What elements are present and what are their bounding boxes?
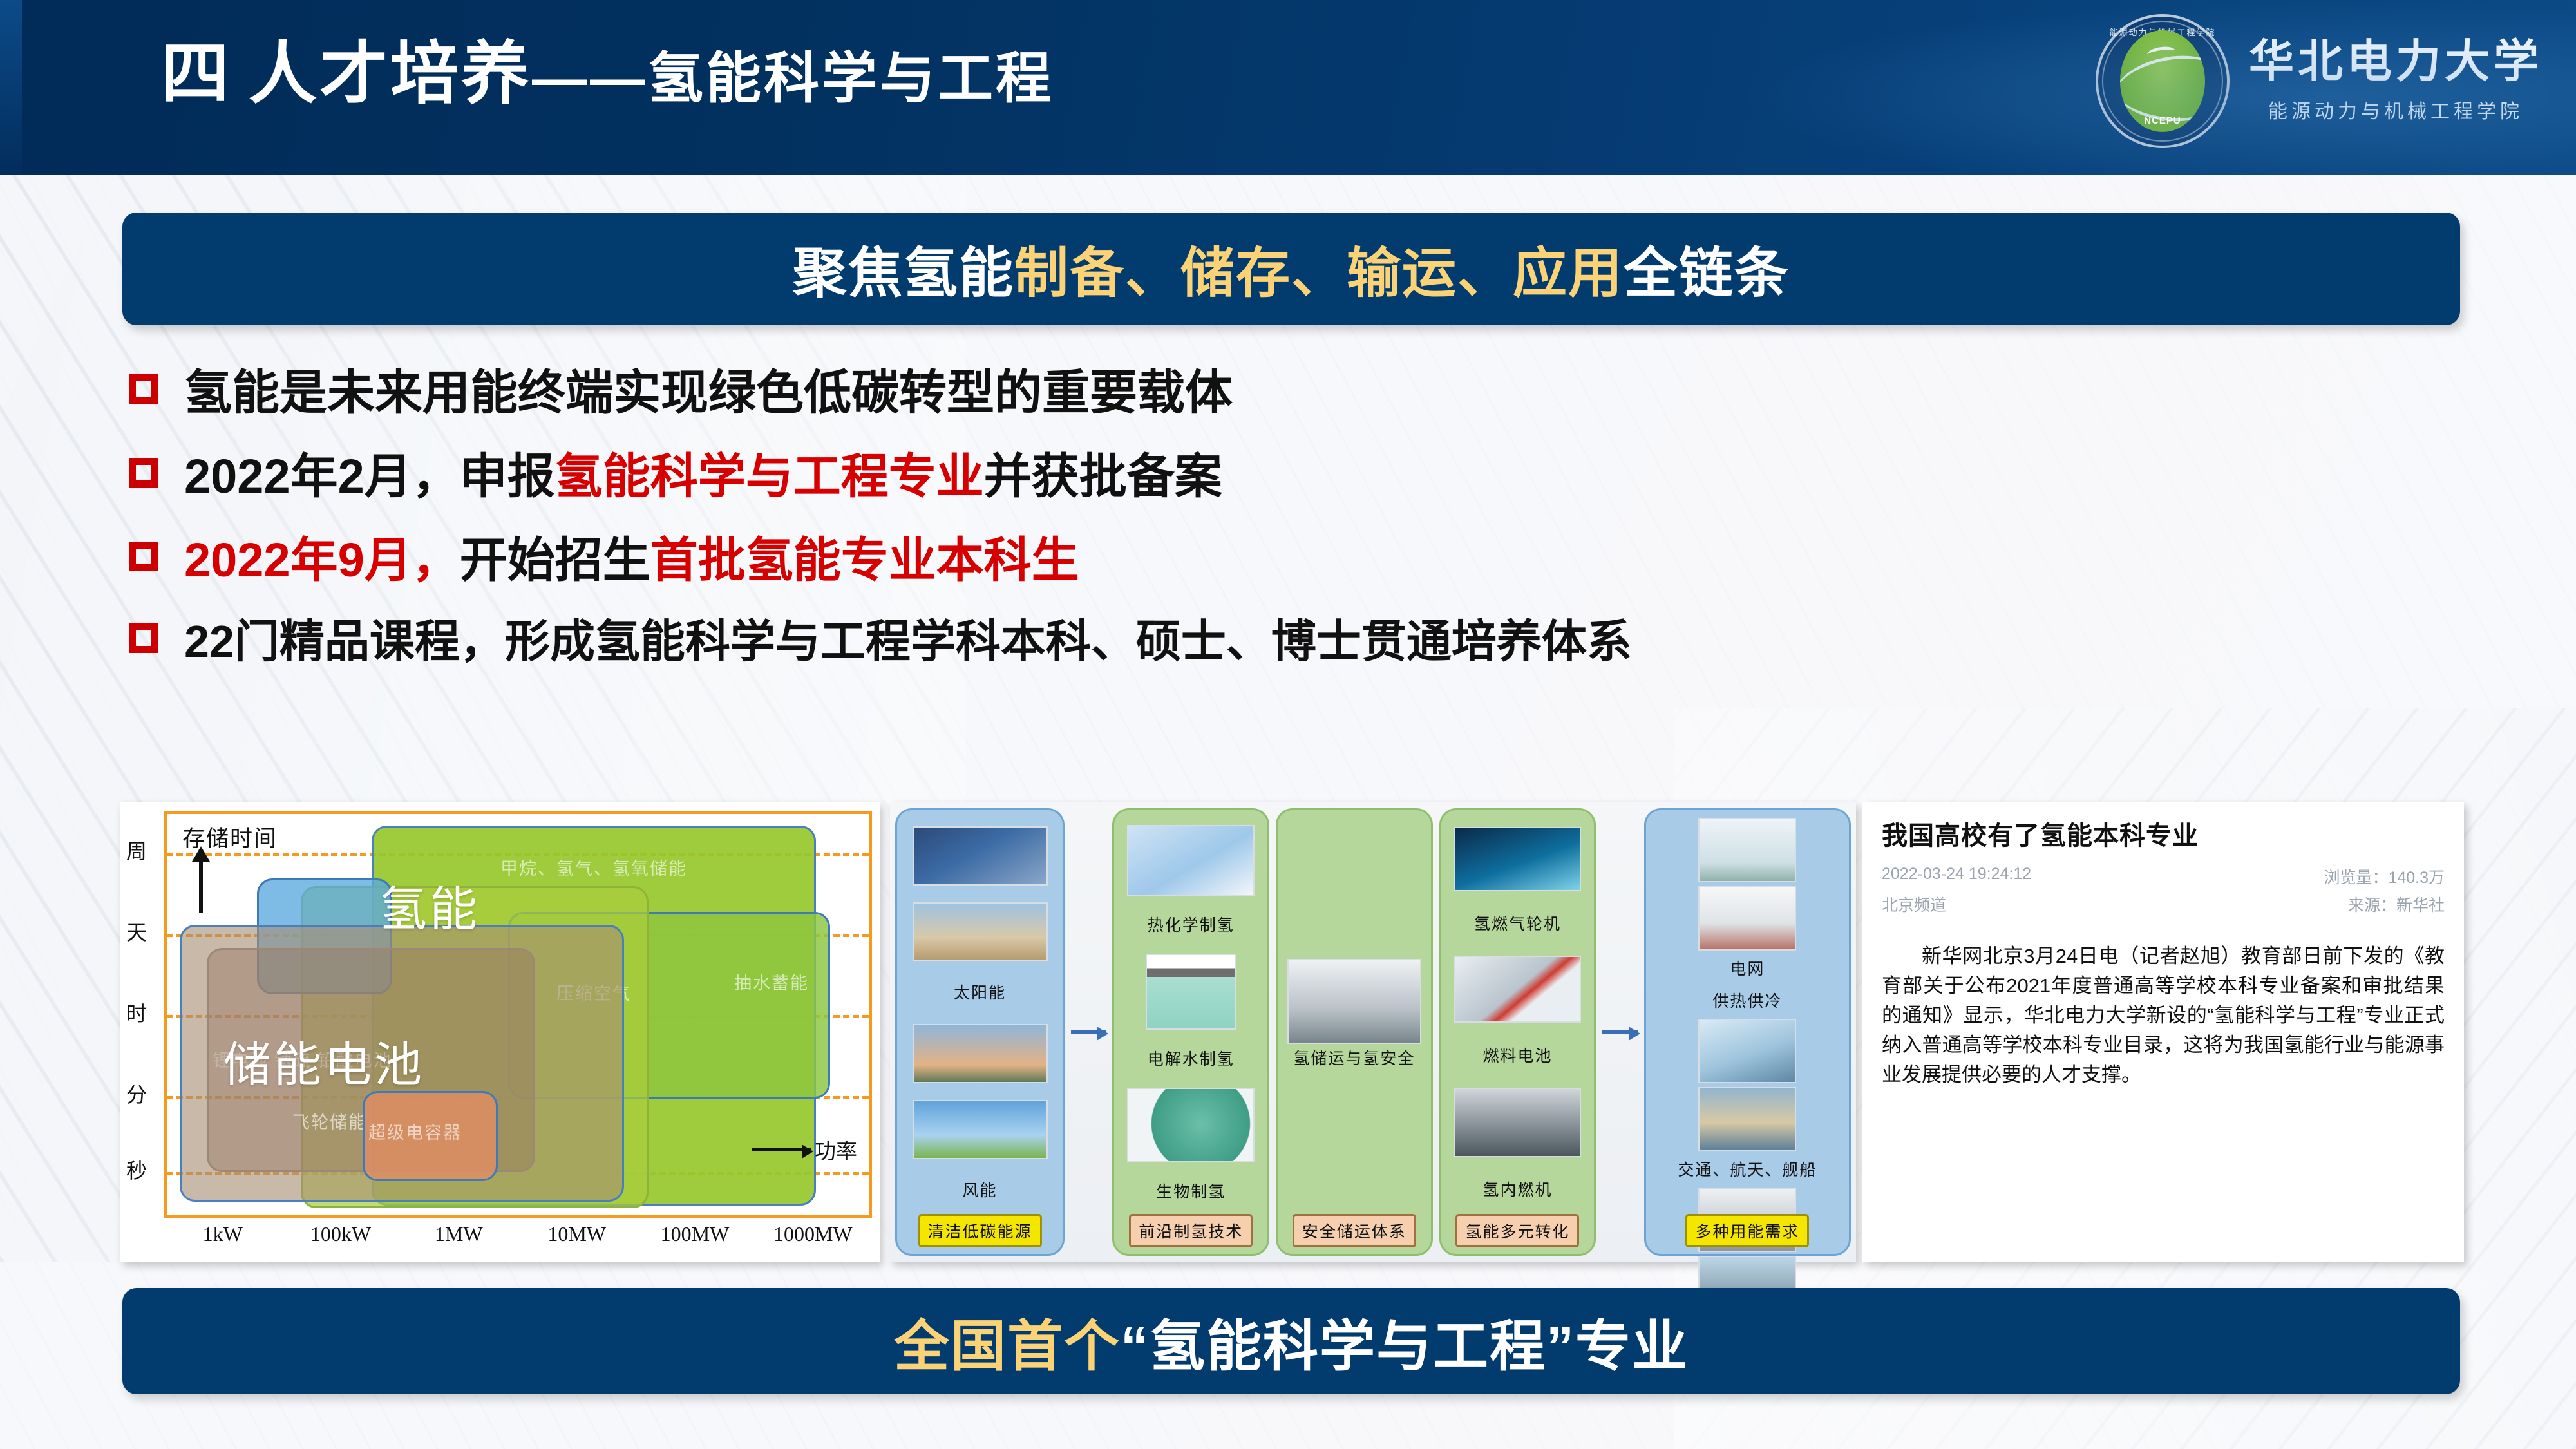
flow-panel-production: 热化学制氢 电解水制氢 生物制氢 前沿制氢技术 <box>1112 808 1269 1256</box>
flow-caption-transport: 交通、航天、舰船 <box>1653 1157 1842 1180</box>
bullet-3-part-2: 开始招生 <box>460 533 650 587</box>
flow-panel-1-column: 太阳能 风能 <box>904 818 1056 1213</box>
flow-caption-ice: 氢内燃机 <box>1482 1177 1552 1200</box>
thermochemical-reactor-diagram <box>1127 825 1255 896</box>
school-name: 能源动力与机械工程学院 <box>2268 95 2523 124</box>
flow-caption-thermochemical: 热化学制氢 <box>1148 913 1235 936</box>
fuel-cell-diagram <box>1454 956 1581 1023</box>
focus-banner-text: 聚焦氢能制备、储存、输运、应用全链条 <box>793 230 1790 308</box>
bio-cell-diagram <box>1127 1088 1255 1162</box>
page-title: 四人才培养——氢能科学与工程 <box>161 40 1054 108</box>
chart-region-label: 飞轮储能 <box>292 1112 367 1134</box>
bullet-item: 氢能是未来用能终端实现绿色低碳转型的重要载体 <box>129 354 2473 423</box>
y-tick-minute: 分 <box>126 1079 147 1108</box>
bullet-2-part-1: 2022年2月，申报 <box>184 450 555 503</box>
seal-abbr-text: NCEPU <box>2144 115 2181 126</box>
bullet-text: 2022年9月，开始招生首批氢能专业本科生 <box>184 522 1079 591</box>
bullet-3-part-1: 2022年9月， <box>184 533 460 587</box>
radiator-photo <box>1698 886 1796 951</box>
news-channel: 北京频道 <box>1882 893 1946 916</box>
x-axis-arrow-icon <box>752 1148 811 1151</box>
gas-turbine-photo <box>1454 827 1581 891</box>
content-row: 甲烷、氢气、氢氧储能 抽水蓄能 压缩空气 锂电池 钠硫 铅酸电池 飞轮储能 超级… <box>120 802 2464 1265</box>
chart-region-label: 超级电容器 <box>368 1122 462 1144</box>
bullet-2-part-3: 并获批备案 <box>984 450 1222 503</box>
flow-arrow-2 <box>1602 1030 1637 1034</box>
seal-ring-chinese-text: 能源动力与机械工程学院 <box>2098 26 2227 38</box>
news-datetime: 2022-03-24 19:24:12 <box>1882 865 2031 888</box>
focus-banner-seg1: 聚焦氢能 <box>793 243 1014 303</box>
bullet-4-part-1: 22门精品课程，形成氢能科学与工程学科本科、硕士、博士贯通培养体系 <box>184 616 1632 667</box>
chart-x-axis-title: 功率 <box>815 1134 857 1165</box>
flow-caption-gas-turbine: 氢燃气轮机 <box>1474 911 1561 934</box>
flow-caption-bio: 生物制氢 <box>1156 1179 1226 1202</box>
flow-caption-electrolysis: 电解水制氢 <box>1148 1046 1235 1070</box>
red-square-bullet-icon <box>129 623 158 653</box>
red-square-bullet-icon <box>129 458 158 488</box>
energy-storage-chart: 甲烷、氢气、氢氧储能 抽水蓄能 压缩空气 锂电池 钠硫 铅酸电池 飞轮储能 超级… <box>120 802 880 1262</box>
bullet-1-part-1: 氢能是未来用能终端实现绿色低碳转型的重要载体 <box>184 366 1233 419</box>
y-tick-week: 周 <box>126 835 147 865</box>
bullet-list: 氢能是未来用能终端实现绿色低碳转型的重要载体 2022年2月，申报氢能科学与工程… <box>129 354 2473 685</box>
flow-caption-wind: 风能 <box>963 1178 998 1201</box>
hydrogen-chain-diagram: 太阳能 风能 清洁低碳能源 热化学制氢 电解水制氢 生物制氢 前沿制氢技术 <box>890 802 1856 1262</box>
news-meta-row-2: 北京频道 来源：新华社 <box>1882 893 2445 916</box>
logo-text-block: 华北电力大学 能源动力与机械工程学院 <box>2249 39 2543 124</box>
chart-highlight-hydrogen: 氢能 <box>379 871 480 940</box>
ncepu-seal-icon: 能源动力与机械工程学院 NCEPU <box>2096 14 2230 148</box>
x-tick-10mw: 10MW <box>518 1222 636 1256</box>
y-tick-day: 天 <box>126 916 147 946</box>
y-tick-second: 秒 <box>126 1155 147 1184</box>
news-source: 来源：新华社 <box>2348 893 2445 916</box>
wind-turbine-photo <box>913 1024 1048 1083</box>
solar-tower-photo <box>913 902 1048 961</box>
chart-x-axis: 1kW 100kW 1MW 10MW 100MW 1000MW <box>164 1222 872 1256</box>
flow-caption-fuel-cell: 燃料电池 <box>1482 1043 1552 1066</box>
news-headline: 我国高校有了氢能本科专业 <box>1882 815 2445 852</box>
flow-arrow-1 <box>1071 1030 1106 1034</box>
x-tick-1kw: 1kW <box>164 1222 281 1256</box>
power-grid-photo <box>1698 818 1796 882</box>
y-axis-arrow-icon <box>199 860 203 913</box>
conclusion-banner-text: 全国首个“氢能科学与工程”专业 <box>894 1301 1689 1381</box>
chart-region-supercapacitor: 超级电容器 <box>363 1091 498 1181</box>
flow-caption-grid: 电网 <box>1698 956 1796 980</box>
seal-bird-icon <box>2146 45 2176 61</box>
bullet-2-part-2: 氢能科学与工程专业 <box>555 450 984 503</box>
wind-farm-photo <box>913 1100 1048 1159</box>
flow-caption-heating-cooling: 供热供冷 <box>1698 989 1796 1012</box>
flow-panel-3-column: 氢储运与氢安全 <box>1284 818 1425 1213</box>
bullet-item: 2022年9月，开始招生首批氢能专业本科生 <box>129 522 2473 591</box>
flow-tag-safe-storage: 安全储运体系 <box>1293 1214 1416 1247</box>
news-view-count: 浏览量：140.3万 <box>2324 865 2445 888</box>
header-accent-bar <box>0 0 22 175</box>
ship-photo <box>1698 1087 1796 1151</box>
combustion-engine-photo <box>1454 1088 1581 1157</box>
conclusion-banner: 全国首个“氢能科学与工程”专业 <box>122 1288 2460 1394</box>
bullet-text: 22门精品课程，形成氢能科学与工程学科本科、硕士、博士贯通培养体系 <box>184 605 1632 670</box>
flow-tag-production-tech: 前沿制氢技术 <box>1129 1214 1253 1247</box>
solar-panel-photo <box>913 826 1048 885</box>
x-tick-100kw: 100kW <box>281 1222 399 1256</box>
flow-panel-storage: 氢储运与氢安全 安全储运体系 <box>1276 808 1433 1256</box>
red-square-bullet-icon <box>129 542 158 571</box>
university-name: 华北电力大学 <box>2249 39 2543 86</box>
conclusion-seg2: “氢能科学与工程”专业 <box>1121 1316 1689 1378</box>
flow-tag-clean-energy: 清洁低碳能源 <box>918 1214 1042 1247</box>
red-square-bullet-icon <box>129 374 158 404</box>
flow-panel-conversion: 氢燃气轮机 燃料电池 氢内燃机 氢能多元转化 <box>1439 808 1596 1256</box>
news-meta-row-1: 2022-03-24 19:24:12 浏览量：140.3万 <box>1882 865 2445 888</box>
bullet-text: 氢能是未来用能终端实现绿色低碳转型的重要载体 <box>184 354 1233 423</box>
news-body-text: 新华网北京3月24日电（记者赵旭）教育部日前下发的《教育部关于公布2021年度普… <box>1882 942 2445 1089</box>
bullet-text: 2022年2月，申报氢能科学与工程专业并获批备案 <box>184 438 1222 507</box>
flow-caption-storage-safety: 氢储运与氢安全 <box>1293 1046 1415 1069</box>
flow-panel-2-column: 热化学制氢 电解水制氢 生物制氢 <box>1121 818 1261 1213</box>
conclusion-seg1: 全国首个 <box>894 1316 1121 1378</box>
chart-highlight-battery: 储能电池 <box>223 1027 424 1095</box>
bullet-3-part-3: 首批氢能专业本科生 <box>650 533 1079 587</box>
chart-plot-area: 甲烷、氢气、氢氧储能 抽水蓄能 压缩空气 锂电池 钠硫 铅酸电池 飞轮储能 超级… <box>164 811 872 1218</box>
title-subtitle: ——氢能科学与工程 <box>532 48 1054 109</box>
x-tick-1mw: 1MW <box>400 1222 518 1256</box>
news-clipping: 我国高校有了氢能本科专业 2022-03-24 19:24:12 浏览量：140… <box>1862 802 2464 1262</box>
hydrogen-plant-photo <box>1287 959 1421 1044</box>
flow-panel-demand: 电网 供热供冷 交通、航天、舰船 工业 军事 多种用能需求 <box>1644 808 1851 1256</box>
bullet-item: 2022年2月，申报氢能科学与工程专业并获批备案 <box>129 438 2473 507</box>
title-number: 四 <box>161 36 249 112</box>
chart-region-label: 抽水蓄能 <box>734 973 809 995</box>
seal-inner-emblem: NCEPU <box>2120 30 2205 132</box>
focus-banner: 聚焦氢能制备、储存、输运、应用全链条 <box>122 213 2460 325</box>
hydrogen-car-photo <box>1698 1019 1796 1083</box>
focus-banner-seg2: 制备、储存、输运、应用 <box>1014 243 1624 303</box>
flow-tag-conversion: 氢能多元转化 <box>1455 1214 1579 1247</box>
slide-header: 四人才培养——氢能科学与工程 能源动力与机械工程学院 NCEPU 华北电力大学 … <box>0 0 2576 175</box>
flow-tag-demand: 多种用能需求 <box>1685 1214 1809 1247</box>
bullet-item: 22门精品课程，形成氢能科学与工程学科本科、硕士、博士贯通培养体系 <box>129 605 2473 670</box>
university-logo-block: 能源动力与机械工程学院 NCEPU 华北电力大学 能源动力与机械工程学院 <box>2096 14 2543 148</box>
seal-wave-1 <box>2120 46 2205 126</box>
flow-panel-clean-energy: 太阳能 风能 清洁低碳能源 <box>895 808 1065 1256</box>
y-tick-hour: 时 <box>126 998 147 1027</box>
x-tick-1000mw: 1000MW <box>754 1222 872 1256</box>
x-tick-100mw: 100MW <box>636 1222 753 1256</box>
chart-region-label: 甲烷、氢气、氢氧储能 <box>500 858 687 880</box>
electrolysis-cell-diagram <box>1146 954 1236 1030</box>
flow-caption-solar: 太阳能 <box>954 980 1006 1003</box>
focus-banner-seg3: 全链条 <box>1624 243 1790 303</box>
chart-x-axis-title-group: 功率 <box>752 1134 857 1165</box>
flow-panel-4-column: 氢燃气轮机 燃料电池 氢内燃机 <box>1448 818 1588 1213</box>
title-main: 人才培养 <box>249 36 532 112</box>
